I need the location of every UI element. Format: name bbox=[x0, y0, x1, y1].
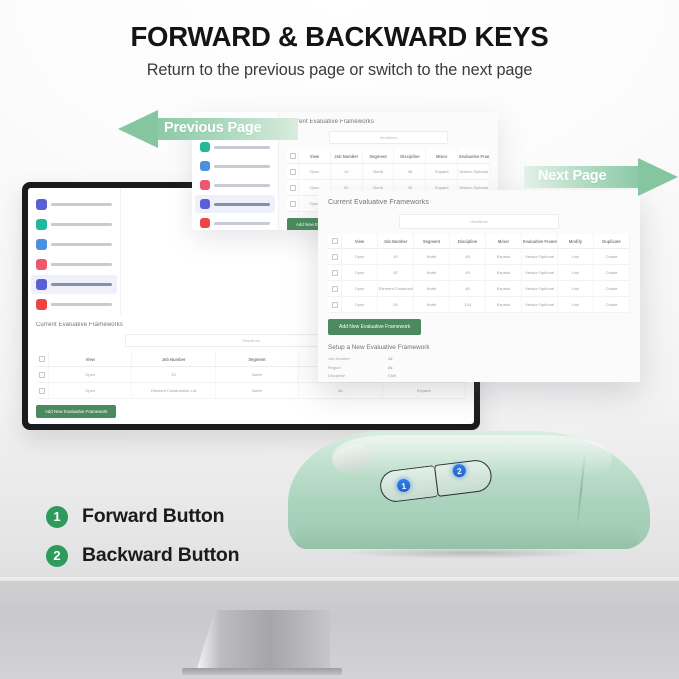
legend-item-forward: 1 Forward Button bbox=[46, 505, 239, 528]
col-discipline[interactable]: Discipline bbox=[394, 149, 426, 164]
field-label: Minor bbox=[328, 382, 374, 383]
sidebar-item-label bbox=[214, 203, 270, 206]
col-evaluative-frameworks[interactable]: Evaluative Frameworks bbox=[458, 149, 490, 164]
col-segment[interactable]: Segment bbox=[215, 352, 298, 367]
cell-modify[interactable]: Link bbox=[558, 281, 594, 297]
cell-duplicate[interactable]: Create bbox=[594, 249, 630, 265]
cell-framework: Vendor Optional bbox=[458, 164, 490, 180]
select-all-checkbox[interactable] bbox=[36, 352, 49, 367]
settings-icon bbox=[36, 299, 47, 310]
setup-field[interactable]: DisciplineCivil bbox=[328, 373, 630, 378]
cell-duplicate[interactable]: Create bbox=[594, 265, 630, 281]
sidebar-item-label bbox=[51, 203, 112, 206]
wireless-mouse: 1 2 bbox=[288, 421, 650, 557]
col-modify[interactable]: Modify bbox=[558, 234, 594, 249]
frameworks-icon bbox=[36, 279, 47, 290]
cell-minor: Expand bbox=[486, 265, 522, 281]
field-value: All bbox=[388, 365, 392, 370]
cell-segment: North bbox=[215, 367, 298, 383]
next-page-arrow: Next Page bbox=[524, 158, 678, 196]
cell-view[interactable]: Open bbox=[342, 281, 378, 297]
app-content-front: Current Evaluative Frameworks Headlines … bbox=[318, 190, 640, 382]
cell-framework: Vendor Optional bbox=[522, 249, 558, 265]
cell-minor: Expand bbox=[486, 297, 522, 313]
col-minor[interactable]: Minor bbox=[486, 234, 522, 249]
mouse-lower-shell bbox=[294, 521, 640, 549]
field-label: Job Number bbox=[328, 356, 374, 361]
table-row[interactable]: Open 10 North 48 Expand Vendor Optional bbox=[287, 164, 490, 180]
cell-duplicate[interactable]: Create bbox=[594, 281, 630, 297]
sidebar-item-label bbox=[214, 184, 270, 187]
cell-segment: North bbox=[414, 297, 450, 313]
arrow-right-icon bbox=[638, 158, 678, 196]
cell-job-number: Element Construction Ltd bbox=[132, 383, 215, 399]
col-job-number[interactable]: Job Number bbox=[378, 234, 414, 249]
cell-segment: North bbox=[414, 281, 450, 297]
cell-view[interactable]: Open bbox=[49, 383, 132, 399]
sidebar-item-label bbox=[51, 263, 112, 266]
cell-segment: North bbox=[414, 265, 450, 281]
cell-minor: Expand bbox=[426, 164, 458, 180]
sidebar-item-label bbox=[214, 165, 270, 168]
header-block: FORWARD & BACKWARD KEYS Return to the pr… bbox=[0, 22, 679, 80]
content-title: Current Evaluative Frameworks bbox=[287, 119, 490, 125]
table-row[interactable]: Open Element Construction Ltd North 46 E… bbox=[36, 383, 466, 399]
cell-segment: North bbox=[362, 164, 394, 180]
col-minor[interactable]: Minor bbox=[426, 149, 458, 164]
cell-discipline: 46 bbox=[299, 383, 382, 399]
sidebar-item-label bbox=[51, 283, 112, 286]
legend: 1 Forward Button 2 Backward Button bbox=[46, 505, 239, 583]
frameworks-icon bbox=[200, 199, 210, 209]
table-row[interactable]: Open 54 North 134 Expand Vendor Optional… bbox=[328, 297, 630, 313]
col-view[interactable]: View bbox=[299, 149, 331, 164]
sidebar-item-label bbox=[51, 243, 112, 246]
cell-modify[interactable]: Link bbox=[558, 297, 594, 313]
cell-job-number: Element Construction Ltd bbox=[378, 281, 414, 297]
cell-job-number: 54 bbox=[378, 297, 414, 313]
col-duplicate[interactable]: Duplicate bbox=[594, 234, 630, 249]
select-all-checkbox[interactable] bbox=[287, 149, 299, 164]
row-checkbox[interactable] bbox=[328, 265, 342, 281]
sidebar-item-advanced-settings[interactable] bbox=[31, 295, 117, 314]
monitor-stand-base bbox=[182, 668, 342, 675]
cell-view[interactable]: Open bbox=[342, 297, 378, 313]
permit-icon bbox=[36, 219, 47, 230]
col-view[interactable]: View bbox=[342, 234, 378, 249]
field-value: Civil bbox=[388, 373, 396, 378]
add-framework-button[interactable]: Add New Evaluative Framework bbox=[328, 319, 421, 335]
col-evaluative-frameworks[interactable]: Evaluative Frameworks bbox=[522, 234, 558, 249]
col-discipline[interactable]: Discipline bbox=[450, 234, 486, 249]
search-placeholder: Headlines bbox=[470, 219, 488, 224]
legend-label-backward: Backward Button bbox=[82, 544, 239, 567]
col-segment[interactable]: Segment bbox=[362, 149, 394, 164]
vendor-criteria-icon bbox=[36, 259, 47, 270]
sidebar-item-vendor-criteria-evaluation[interactable] bbox=[31, 255, 117, 274]
select-all-checkbox[interactable] bbox=[328, 234, 342, 249]
cell-view[interactable]: Open bbox=[342, 249, 378, 265]
legend-badge-1: 1 bbox=[46, 506, 68, 528]
row-checkbox[interactable] bbox=[287, 164, 299, 180]
previous-page-arrow: Previous Page bbox=[118, 110, 298, 148]
sidebar-item-sub-vendor-certification[interactable] bbox=[31, 235, 117, 254]
cell-job-number: 10 bbox=[132, 367, 215, 383]
cell-minor: Expand bbox=[486, 281, 522, 297]
monitor-stand-neck bbox=[196, 610, 330, 672]
side-button-group: 1 2 bbox=[378, 458, 493, 505]
field-value: All bbox=[388, 382, 392, 383]
table-row[interactable]: Open 52 North 49 Expand Vendor Optional … bbox=[328, 265, 630, 281]
floating-panel-front: Current Evaluative Frameworks Headlines … bbox=[318, 190, 640, 382]
page-subtitle: Return to the previous page or switch to… bbox=[0, 61, 679, 80]
cell-job-number: 52 bbox=[378, 265, 414, 281]
setup-field[interactable]: MinorAll bbox=[328, 382, 630, 383]
cell-view[interactable]: Open bbox=[49, 367, 132, 383]
table-row[interactable]: Open Element Construction Ltd North 46 E… bbox=[328, 281, 630, 297]
field-label: Discipline bbox=[328, 373, 374, 378]
cell-modify[interactable]: Link bbox=[558, 249, 594, 265]
desk-surface bbox=[0, 581, 679, 679]
settings-icon bbox=[200, 218, 210, 228]
sidebar-item-permit-certification[interactable] bbox=[31, 215, 117, 234]
product-infographic: FORWARD & BACKWARD KEYS Return to the pr… bbox=[0, 0, 679, 679]
row-checkbox[interactable] bbox=[328, 249, 342, 265]
cell-view[interactable]: Open bbox=[342, 265, 378, 281]
table-header-row: View Job Number Segment Discipline Minor… bbox=[328, 234, 630, 249]
row-checkbox[interactable] bbox=[328, 281, 342, 297]
search-placeholder: Headlines bbox=[242, 338, 260, 343]
app-sidebar-monitor[interactable] bbox=[28, 188, 121, 314]
sidebar-item-label bbox=[214, 222, 270, 225]
sidebar-item-advanced-settings[interactable] bbox=[195, 214, 275, 230]
search-input[interactable]: Headlines bbox=[329, 131, 449, 144]
cell-discipline: 48 bbox=[450, 249, 486, 265]
cell-job-number: 10 bbox=[378, 249, 414, 265]
cell-discipline: 46 bbox=[450, 281, 486, 297]
legend-item-backward: 2 Backward Button bbox=[46, 544, 239, 567]
row-checkbox[interactable] bbox=[287, 196, 299, 212]
legend-label-forward: Forward Button bbox=[82, 505, 224, 528]
cell-framework: Vendor Optional bbox=[522, 281, 558, 297]
table-header-row: View Job Number Segment Discipline Minor… bbox=[287, 149, 490, 164]
content-title: Current Evaluative Frameworks bbox=[328, 199, 630, 206]
cell-duplicate[interactable]: Create bbox=[594, 297, 630, 313]
sidebar-item-sub-vendor-certification[interactable] bbox=[195, 157, 275, 175]
row-checkbox[interactable] bbox=[328, 297, 342, 313]
dashboard-icon bbox=[36, 199, 47, 210]
col-job-number[interactable]: Job Number bbox=[330, 149, 362, 164]
cell-job-number: 10 bbox=[330, 164, 362, 180]
row-checkbox[interactable] bbox=[287, 180, 299, 196]
sidebar-item-label bbox=[51, 223, 112, 226]
add-framework-button[interactable]: Add New Evaluative Framework bbox=[36, 405, 116, 418]
col-segment[interactable]: Segment bbox=[414, 234, 450, 249]
sub-vendor-icon bbox=[36, 239, 47, 250]
cell-framework: Vendor Optional bbox=[522, 297, 558, 313]
next-page-label: Next Page bbox=[538, 168, 606, 184]
cell-minor: Expand bbox=[382, 383, 465, 399]
setup-field[interactable]: RegionAll bbox=[328, 365, 630, 370]
vendor-criteria-icon bbox=[200, 180, 210, 190]
col-view[interactable]: View bbox=[49, 352, 132, 367]
table-row[interactable]: Open 10 North 48 Expand Vendor Optional … bbox=[328, 249, 630, 265]
cell-segment: North bbox=[414, 249, 450, 265]
cell-segment: North bbox=[215, 383, 298, 399]
sidebar-item-evaluative-frameworks[interactable] bbox=[31, 275, 117, 294]
cell-minor: Expand bbox=[486, 249, 522, 265]
row-checkbox[interactable] bbox=[36, 383, 49, 399]
search-placeholder: Headlines bbox=[380, 135, 398, 140]
sidebar-item-dashboard[interactable] bbox=[31, 195, 117, 214]
field-value: All bbox=[388, 356, 392, 361]
page-title: FORWARD & BACKWARD KEYS bbox=[0, 22, 679, 53]
sidebar-item-vendor-criteria-evaluation[interactable] bbox=[195, 176, 275, 194]
previous-page-label: Previous Page bbox=[164, 120, 261, 136]
search-input[interactable]: Headlines bbox=[399, 214, 558, 229]
cell-discipline: 134 bbox=[450, 297, 486, 313]
arrow-left-icon bbox=[118, 110, 158, 148]
cell-discipline: 48 bbox=[394, 164, 426, 180]
field-label: Region bbox=[328, 365, 374, 370]
setup-field[interactable]: Job NumberAll bbox=[328, 356, 630, 361]
sidebar-item-label bbox=[51, 303, 112, 306]
cell-view[interactable]: Open bbox=[299, 164, 331, 180]
row-checkbox[interactable] bbox=[36, 367, 49, 383]
sidebar-item-evaluative-frameworks[interactable] bbox=[195, 195, 275, 213]
sub-vendor-icon bbox=[200, 161, 210, 171]
cell-discipline: 49 bbox=[450, 265, 486, 281]
legend-badge-2: 2 bbox=[46, 545, 68, 567]
col-job-number[interactable]: Job Number bbox=[132, 352, 215, 367]
cell-modify[interactable]: Link bbox=[558, 265, 594, 281]
setup-section-title: Setup a New Evaluative Framework bbox=[328, 344, 630, 351]
cell-framework: Vendor Optional bbox=[522, 265, 558, 281]
frameworks-table-front: View Job Number Segment Discipline Minor… bbox=[328, 234, 630, 313]
app-window-front: Current Evaluative Frameworks Headlines … bbox=[318, 190, 640, 382]
